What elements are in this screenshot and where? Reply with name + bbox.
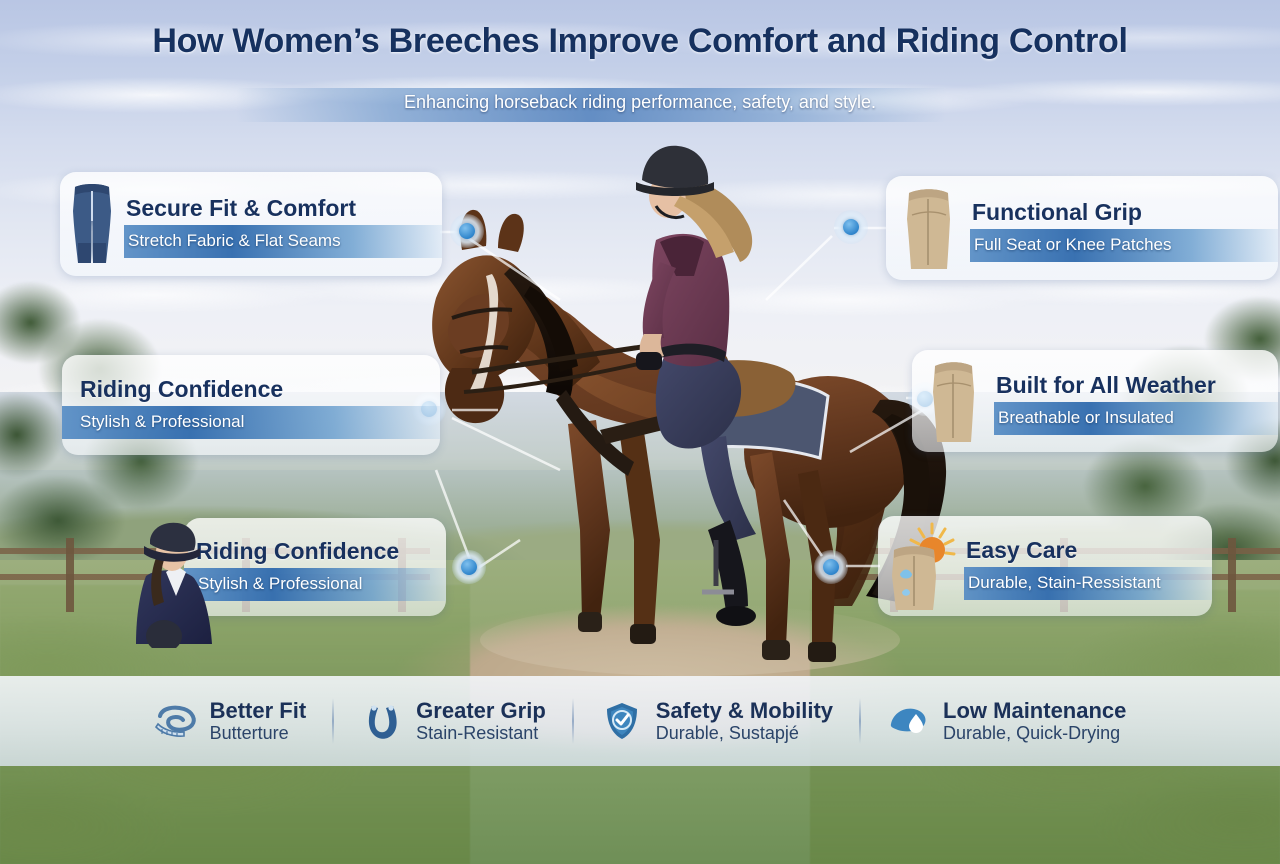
connector-node [834,210,868,244]
benefit-text: Greater Grip Stain-Resistant [416,699,546,744]
benefit-title: Better Fit [210,699,307,724]
card-title: Built for All Weather [994,367,1278,402]
card-text: Built for All Weather Breathable or Insu… [994,350,1278,452]
benefit-text: Low Maintenance Durable, Quick-Drying [943,699,1126,744]
card-subtitle: Stretch Fabric & Flat Seams [124,225,442,259]
breeches-sun-droplet-icon [878,516,964,616]
connector-node [450,214,484,248]
benefit-item-better-fit[interactable]: Better Fit Butterture [128,699,333,744]
card-text: Riding Confidence Stylish & Professional [62,355,440,455]
feature-card-secure-fit[interactable]: Secure Fit & Comfort Stretch Fabric & Fl… [60,172,442,276]
card-text: Functional Grip Full Seat or Knee Patche… [970,176,1278,280]
benefit-text: Safety & Mobility Durable, Sustapjé [656,699,833,744]
connector-node [814,550,848,584]
page-title: How Women’s Breeches Improve Comfort and… [0,22,1280,61]
header-block: How Women’s Breeches Improve Comfort and… [0,22,1280,61]
feature-card-riding-confidence-left[interactable]: Riding Confidence Stylish & Professional [62,355,440,455]
card-subtitle: Stylish & Professional [62,406,440,440]
breeches-tan-icon [912,350,994,452]
benefit-item-low-maintenance[interactable]: Low Maintenance Durable, Quick-Drying [861,699,1152,744]
water-droplet-icon [887,701,931,741]
feature-card-easy-care[interactable]: Easy Care Durable, Stain-Ressistant [878,516,1212,616]
shield-check-icon [600,701,644,741]
benefit-subtitle: Durable, Quick-Drying [943,723,1126,743]
benefit-item-greater-grip[interactable]: Greater Grip Stain-Resistant [334,699,572,744]
benefit-subtitle: Butterture [210,723,307,743]
card-text: Easy Care Durable, Stain-Ressistant [964,516,1212,616]
feature-card-built-for-all-weather[interactable]: Built for All Weather Breathable or Insu… [912,350,1278,452]
breeches-navy-icon [60,172,124,276]
breeches-tan-icon [886,176,970,280]
measuring-tape-icon [154,701,198,741]
feature-card-functional-grip[interactable]: Functional Grip Full Seat or Knee Patche… [886,176,1278,280]
card-text: Secure Fit & Comfort Stretch Fabric & Fl… [124,172,442,276]
card-title: Functional Grip [970,194,1278,229]
card-title: Riding Confidence [62,371,440,406]
card-title: Easy Care [964,532,1212,567]
card-subtitle: Breathable or Insulated [994,402,1278,436]
benefit-text: Better Fit Butterture [210,699,307,744]
rider-photo-icon [120,518,230,648]
infographic-canvas: How Women’s Breeches Improve Comfort and… [0,0,1280,864]
horseshoe-icon [360,701,404,741]
benefit-title: Greater Grip [416,699,546,724]
benefits-bar: Better Fit Butterture Greater Grip Stain… [0,676,1280,766]
benefit-subtitle: Stain-Resistant [416,723,546,743]
benefit-title: Low Maintenance [943,699,1126,724]
card-subtitle: Durable, Stain-Ressistant [964,567,1212,601]
card-subtitle: Full Seat or Knee Patches [970,229,1278,263]
benefit-item-safety-mobility[interactable]: Safety & Mobility Durable, Sustapjé [574,699,859,744]
benefit-title: Safety & Mobility [656,699,833,724]
benefit-subtitle: Durable, Sustapjé [656,723,833,743]
connector-node [452,550,486,584]
page-subtitle: Enhancing horseback riding performance, … [0,92,1280,113]
card-title: Secure Fit & Comfort [124,190,442,225]
